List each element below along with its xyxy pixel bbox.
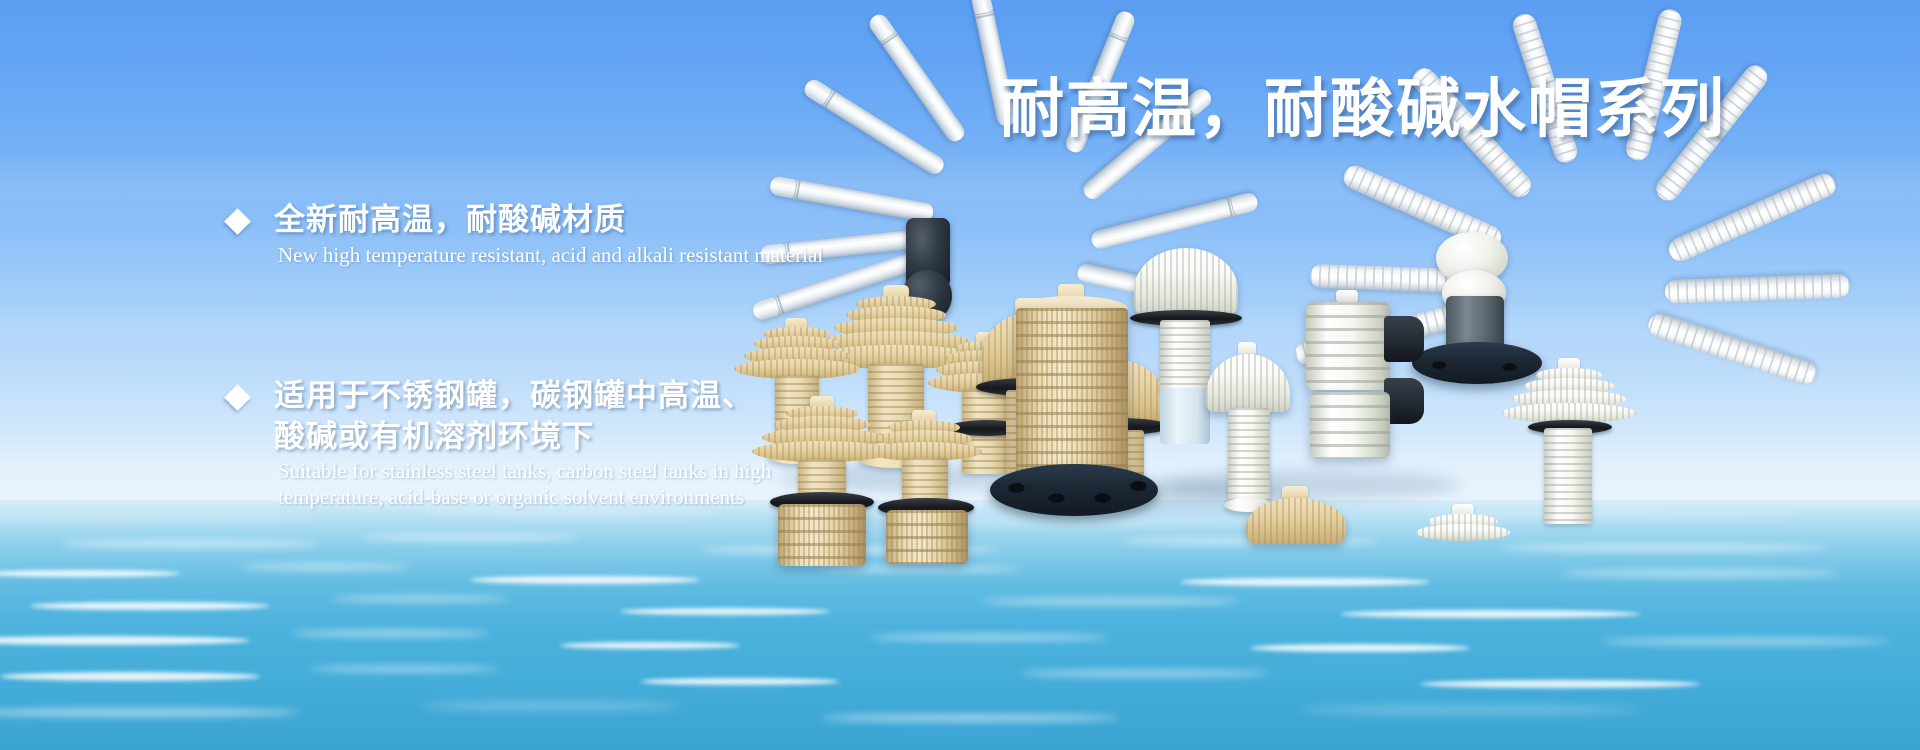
clear-barrel	[1160, 388, 1210, 444]
page-title: 耐高温，耐酸碱水帽系列	[1000, 58, 1726, 150]
bullet-subtext-en: New high temperature resistant, acid and…	[278, 243, 1048, 268]
bullet-subtext-en-line2: temperature, acid-base or organic solven…	[278, 485, 1048, 510]
feature-bullet-item: 适用于不锈钢罐，碳钢罐中高温、 酸碱或有机溶剂环境下 Suitable for …	[228, 376, 1048, 510]
feature-bullet-list: 全新耐高温，耐酸碱材质 New high temperature resista…	[228, 200, 1048, 510]
feature-bullet-item: 全新耐高温，耐酸碱材质 New high temperature resista…	[228, 200, 1048, 268]
bullet-subtext-en-line1: Suitable for stainless steel tanks, carb…	[278, 459, 1048, 484]
product-banner: 耐高温，耐酸碱水帽系列 全新耐高温，耐酸碱材质 New high tempera…	[0, 0, 1920, 750]
bullet-heading-cn-line2: 酸碱或有机溶剂环境下	[274, 417, 1048, 458]
product-shadow	[1160, 470, 1460, 500]
bullet-heading-cn: 适用于不锈钢罐，碳钢罐中高温、	[274, 376, 1048, 417]
bullet-heading-cn: 全新耐高温，耐酸碱材质	[274, 200, 1048, 241]
